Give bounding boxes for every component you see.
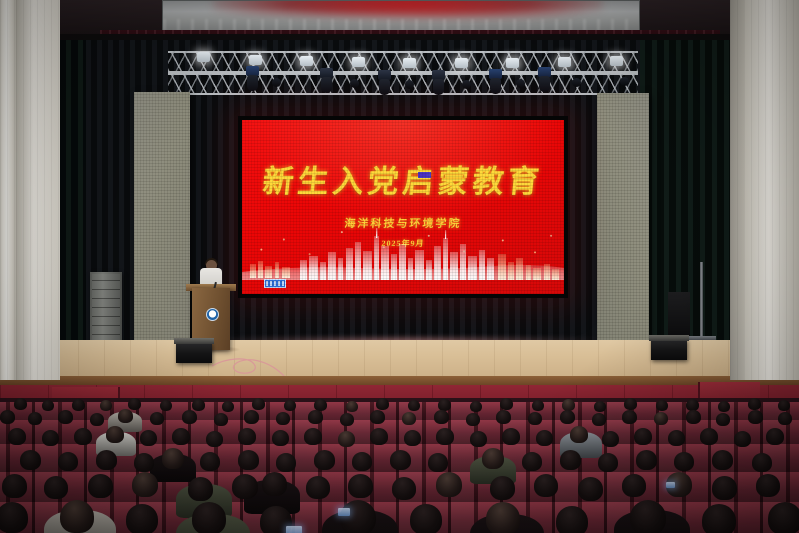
audience-head xyxy=(150,412,164,425)
audience-head xyxy=(2,474,27,498)
par-light xyxy=(249,55,262,65)
audience-head xyxy=(370,428,388,445)
audience-head xyxy=(58,452,78,471)
audience-head xyxy=(490,476,515,500)
audience-head xyxy=(340,500,376,533)
moving-head-light xyxy=(378,70,391,96)
audience-head xyxy=(428,453,448,472)
audience-head xyxy=(598,453,618,472)
fixture-lamp xyxy=(572,78,581,87)
audience-head xyxy=(712,476,737,500)
moving-head-lens xyxy=(247,75,258,91)
audience-head xyxy=(106,426,124,443)
audience-head xyxy=(636,450,657,470)
audience-head xyxy=(352,452,372,471)
audience-head xyxy=(232,474,258,499)
acoustic-flat-left xyxy=(134,92,190,344)
audience-head xyxy=(340,413,354,426)
audience-head xyxy=(404,430,421,446)
audience-head xyxy=(634,428,652,445)
audience-head xyxy=(702,504,736,533)
audience-head xyxy=(466,413,480,426)
audience-head xyxy=(674,452,694,471)
audience-head xyxy=(276,412,290,425)
par-light xyxy=(403,58,416,68)
par-light xyxy=(352,57,365,67)
audience-head xyxy=(42,430,59,446)
audience-head xyxy=(96,450,117,470)
audience-head xyxy=(768,502,799,533)
audience-head xyxy=(0,410,15,424)
audience-head xyxy=(534,474,558,497)
audience-head xyxy=(8,428,26,445)
moving-head-light xyxy=(246,66,259,92)
audience-head xyxy=(436,428,454,445)
audience-head xyxy=(470,401,482,412)
truss-rail-bottom xyxy=(168,93,638,95)
audience-head xyxy=(560,410,575,424)
audience-head xyxy=(88,474,113,498)
audience-head xyxy=(188,477,213,501)
par-light xyxy=(610,56,623,66)
audience-area xyxy=(0,398,799,533)
audience-head xyxy=(20,450,41,470)
led-screen-surface: 新生入党启蒙教育 海洋科技与环境学院 2025年9月 xyxy=(242,120,564,294)
ceiling-reflective-panel xyxy=(162,0,640,32)
par-light xyxy=(300,56,313,66)
audience-head xyxy=(128,398,141,410)
fixture-lamp xyxy=(620,77,629,86)
audience-head xyxy=(28,412,42,425)
audience-head xyxy=(200,452,220,471)
monitor-top xyxy=(174,338,214,344)
audience-head xyxy=(182,410,197,424)
truss-lattice xyxy=(168,74,638,93)
phone-screen-glow xyxy=(286,526,302,533)
audience-head xyxy=(346,401,358,412)
audience-head xyxy=(556,506,588,533)
audience-head xyxy=(162,448,184,469)
moving-head-light xyxy=(320,68,333,94)
audience-head xyxy=(126,504,158,533)
led-screen: 新生入党启蒙教育 海洋科技与环境学院 2025年9月 xyxy=(238,116,568,298)
audience-head xyxy=(686,410,701,424)
audience-head xyxy=(206,431,223,447)
audience-head xyxy=(44,476,68,499)
par-light xyxy=(455,58,468,68)
moving-head-light xyxy=(489,69,502,95)
audience-head xyxy=(308,410,323,424)
audience-head xyxy=(244,410,259,424)
moving-head-lens xyxy=(539,76,550,92)
audience-head xyxy=(252,398,265,410)
audience-head xyxy=(756,474,780,497)
audience-head xyxy=(74,428,92,445)
audience-head xyxy=(284,400,296,411)
lighting-stand xyxy=(700,262,703,340)
monitor-top xyxy=(649,335,689,341)
audience-head xyxy=(482,448,504,469)
audience-head xyxy=(214,413,228,426)
audience-head xyxy=(528,412,542,425)
equipment-case xyxy=(668,292,690,338)
audience-head xyxy=(376,398,389,410)
audience-head xyxy=(262,472,287,496)
audience-head xyxy=(314,450,335,470)
fixture-lamp xyxy=(462,80,471,89)
audience-head xyxy=(470,431,487,447)
audience-head xyxy=(748,398,761,410)
audience-head xyxy=(118,409,133,423)
audience-head xyxy=(486,502,520,533)
audience-head xyxy=(100,400,112,411)
audience-head xyxy=(560,450,581,470)
led-artifact-marker xyxy=(418,172,431,178)
audience-head xyxy=(536,430,553,446)
equipment-rack-left xyxy=(90,272,122,346)
audience-head xyxy=(502,428,520,445)
audience-head xyxy=(172,428,190,445)
audience-head xyxy=(532,400,544,411)
proscenium-column-left-outer xyxy=(0,0,16,380)
audience-head xyxy=(90,413,104,426)
moving-head-light xyxy=(538,67,551,93)
audience-head xyxy=(700,428,718,445)
audience-head xyxy=(778,400,790,411)
audience-head xyxy=(60,500,94,533)
phone-screen-glow xyxy=(338,508,350,516)
fixture-lamp xyxy=(350,79,359,88)
audience-head xyxy=(622,410,637,424)
fixture-lamp xyxy=(272,78,281,87)
phone-screen-glow xyxy=(666,482,675,488)
audience-head xyxy=(390,450,411,470)
audience-head xyxy=(192,399,205,411)
audience-head xyxy=(14,398,27,410)
par-light xyxy=(558,57,571,67)
audience-head xyxy=(160,400,172,411)
led-corner-badge xyxy=(264,279,286,288)
audience-head xyxy=(134,453,154,472)
audience-head xyxy=(522,452,542,471)
lighting-truss-lower xyxy=(168,73,638,95)
audience-head xyxy=(778,412,792,425)
audience-head xyxy=(238,428,256,445)
audience-head xyxy=(238,450,259,470)
audience-head xyxy=(140,430,157,446)
presentation-title: 新生入党启蒙教育 xyxy=(242,156,564,201)
fixture-lamp xyxy=(405,80,414,89)
moving-head-lens xyxy=(321,77,332,93)
auditorium-photo: 新生入党启蒙教育 海洋科技与环境学院 2025年9月 xyxy=(0,0,799,533)
audience-head xyxy=(752,453,772,472)
audience-head xyxy=(338,431,355,447)
audience-head xyxy=(410,504,442,533)
audience-head xyxy=(304,428,322,445)
audience-head xyxy=(192,502,226,533)
audience-head xyxy=(668,430,685,446)
acoustic-flat-right xyxy=(597,93,649,341)
audience-head xyxy=(592,413,606,426)
audience-head xyxy=(272,430,289,446)
audience-head xyxy=(716,413,730,426)
stage-edge-trim xyxy=(0,376,799,385)
audience-head xyxy=(222,401,234,412)
audience-head xyxy=(496,410,511,424)
par-light xyxy=(506,58,519,68)
audience-head xyxy=(434,410,449,424)
stage-monitor-speaker xyxy=(176,342,212,363)
audience-head xyxy=(370,410,385,424)
fixture-lamp xyxy=(516,79,525,88)
audience-head xyxy=(392,477,416,500)
moving-head-light xyxy=(432,70,445,96)
audience-head xyxy=(718,401,730,412)
audience-head xyxy=(306,476,330,499)
audience-head xyxy=(408,400,420,411)
audience-head xyxy=(748,410,763,424)
stage-monitor-speaker xyxy=(651,339,687,360)
audience-head xyxy=(656,400,668,411)
audience-head xyxy=(348,474,373,498)
audience-head xyxy=(570,426,588,443)
moving-head-lens xyxy=(379,79,390,95)
proscenium-column-right xyxy=(744,0,799,380)
audience-head xyxy=(766,428,784,445)
moving-head-lens xyxy=(490,78,501,94)
audience-head xyxy=(622,474,646,497)
audience-head xyxy=(654,412,668,425)
audience-head xyxy=(578,477,603,501)
ceiling-screen-reflection-soft xyxy=(283,3,583,19)
city-skyline-icon xyxy=(242,224,564,280)
audience-head xyxy=(42,400,54,411)
audience-head xyxy=(0,502,28,533)
audience-head xyxy=(734,431,751,447)
audience-head xyxy=(132,472,158,497)
audience-head xyxy=(712,450,733,470)
audience-head xyxy=(602,431,619,447)
audience-head xyxy=(276,453,296,472)
university-crest-icon xyxy=(206,308,219,321)
audience-head xyxy=(594,401,606,412)
audience-head xyxy=(58,410,73,424)
par-light xyxy=(197,52,210,62)
audience-head xyxy=(436,472,462,497)
audience-head xyxy=(630,500,666,533)
audience-head xyxy=(402,412,416,425)
audience-head xyxy=(72,399,85,411)
proscenium-column-left xyxy=(16,0,60,380)
moving-head-lens xyxy=(433,79,444,95)
audience-head xyxy=(500,398,513,410)
audience-head xyxy=(624,398,637,410)
